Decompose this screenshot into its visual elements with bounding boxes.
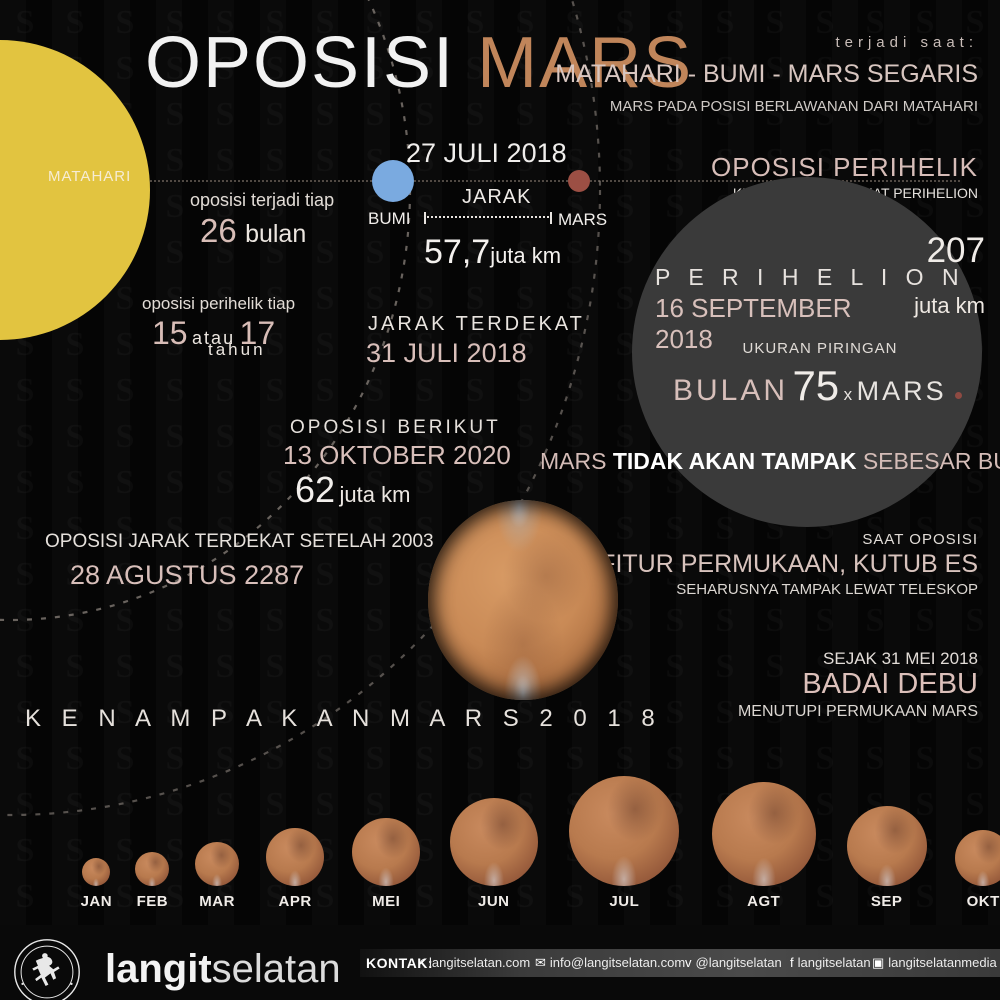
perihelion-distance-unit: juta km bbox=[914, 293, 985, 319]
mars-disc bbox=[352, 818, 420, 886]
berlawanan-sub: MARS PADA POSISI BERLAWANAN DARI MATAHAR… bbox=[610, 98, 978, 115]
mars-disc bbox=[569, 776, 679, 886]
title-word-oposisi: OPOSISI bbox=[145, 23, 455, 103]
month-column: FEB bbox=[123, 852, 182, 910]
mars-disc bbox=[712, 782, 816, 886]
oposisi-berikut-number: 62 bbox=[295, 469, 335, 510]
contact-text: @langitselatan bbox=[696, 955, 782, 970]
perihelion-label: P E R I H E L I O N bbox=[655, 264, 965, 291]
instagram-icon: ▣ bbox=[872, 955, 884, 971]
oposisi-berikut-date: 13 OKTOBER 2020 bbox=[283, 440, 511, 471]
contact-twitter[interactable]: ᴠ@langitselatan bbox=[685, 955, 782, 970]
brand-selatan: selatan bbox=[212, 947, 341, 991]
month-label: FEB bbox=[123, 893, 182, 910]
setelah-2003-date: 28 AGUSTUS 2287 bbox=[70, 560, 304, 591]
perihelik-number-1: 15 bbox=[152, 315, 188, 351]
langitselatan-logo-icon bbox=[12, 937, 82, 1000]
mars-disc bbox=[955, 830, 1000, 886]
month-column: AGT bbox=[696, 782, 832, 910]
opposition-date: 27 JULI 2018 bbox=[406, 138, 567, 169]
mars-disc bbox=[266, 828, 324, 886]
mars-disc bbox=[82, 858, 110, 886]
contact-text: langitselatan.com bbox=[429, 955, 530, 970]
contact-text: langitselatan bbox=[798, 955, 871, 970]
perihelion-block: 207 P E R I H E L I O N juta km 16 SEPTE… bbox=[655, 238, 985, 355]
jarak-terdekat-date: 31 JULI 2018 bbox=[366, 338, 527, 369]
mars-word: MARS bbox=[857, 376, 947, 406]
menutupi-permukaan-sub: MENUTUPI PERMUKAAN MARS bbox=[738, 703, 978, 721]
saat-oposisi-label: SAAT OPOSISI bbox=[862, 531, 978, 548]
sejak-mei-label: SEJAK 31 MEI 2018 bbox=[823, 649, 978, 669]
kenampakan-heading: K E N A M P A K A N M A R S 2 0 1 8 bbox=[25, 705, 662, 733]
month-label: AGT bbox=[696, 893, 832, 910]
oposisi-tiap-number: 26 bbox=[200, 212, 237, 249]
tampak-bold: TIDAK AKAN TAMPAK bbox=[613, 448, 857, 474]
seharusnya-teleskop-sub: SEHARUSNYA TAMPAK LEWAT TELESKOP bbox=[676, 581, 978, 598]
segaris-headline: MATAHARI - BUMI - MARS SEGARIS bbox=[555, 60, 978, 89]
month-column: MAR bbox=[182, 842, 252, 910]
month-column: OKT bbox=[942, 830, 1000, 910]
month-label: JUL bbox=[553, 893, 696, 910]
mars-dot-icon bbox=[955, 392, 962, 399]
distance-measure-bar bbox=[424, 216, 552, 218]
contact-rss[interactable]: ◜langitselatan.com bbox=[420, 955, 530, 971]
setelah-2003-label: OPOSISI JARAK TERDEKAT SETELAH 2003 bbox=[45, 531, 434, 553]
mars-label: MARS bbox=[558, 210, 607, 230]
month-label: MAR bbox=[182, 893, 252, 910]
mail-icon: ✉ bbox=[535, 955, 546, 971]
bulan-factor: 75 bbox=[792, 362, 839, 409]
oposisi-tiap-unit: bulan bbox=[245, 220, 306, 248]
oposisi-tiap-value-row: 26 bulan bbox=[200, 212, 306, 250]
brand-wordmark: langitselatan bbox=[105, 947, 341, 992]
contact-facebook[interactable]: flangitselatan bbox=[790, 955, 871, 970]
bulan-vs-mars-row: BULAN 75 x MARS bbox=[645, 362, 990, 410]
distance-value-row: 57,7juta km bbox=[424, 233, 561, 272]
footer-bar: langitselatan KONTAK: ◜langitselatan.com… bbox=[0, 925, 1000, 1000]
perihelik-tahun-unit: tahun bbox=[208, 340, 266, 360]
month-column: JAN bbox=[70, 858, 123, 910]
month-column: JUL bbox=[553, 776, 696, 910]
jarak-label: JARAK bbox=[462, 186, 531, 209]
fitur-permukaan-headline: FITUR PERMUKAAN, KUTUB ES bbox=[600, 550, 978, 579]
oposisi-berikut-unit: juta km bbox=[340, 482, 411, 507]
earth-planet-icon bbox=[372, 160, 414, 202]
bulan-word: BULAN bbox=[673, 374, 788, 407]
brand-langit: langit bbox=[105, 947, 212, 991]
mars-photo-main bbox=[428, 500, 618, 700]
tampak-statement: MARS TIDAK AKAN TAMPAK SEBESAR BULAN bbox=[540, 448, 980, 475]
month-label: SEP bbox=[832, 893, 942, 910]
perihelion-distance-value: 207 bbox=[927, 238, 985, 264]
oposisi-berikut-label: OPOSISI BERIKUT bbox=[290, 417, 501, 439]
distance-value: 57,7 bbox=[424, 233, 490, 271]
contact-mail[interactable]: ✉info@langitselatan.com bbox=[535, 955, 685, 971]
month-column: MEI bbox=[338, 818, 435, 910]
contact-text: langitselatanmedia bbox=[888, 955, 996, 970]
terjadi-saat-kicker: terjadi saat: bbox=[835, 34, 978, 51]
perihelik-tiap-label: oposisi perihelik tiap bbox=[142, 294, 295, 314]
mars-disc bbox=[195, 842, 239, 886]
oposisi-perihelik-title: OPOSISI PERIHELIK bbox=[711, 152, 978, 183]
mars-planet-icon bbox=[568, 170, 590, 192]
jarak-terdekat-label: JARAK TERDEKAT bbox=[368, 313, 585, 336]
distance-unit: juta km bbox=[490, 243, 561, 268]
mars-size-timeline: JANFEBMARAPRMEIJUNJULAGTSEPOKTNOVDESJAN bbox=[30, 760, 970, 910]
multiply-symbol: x bbox=[844, 385, 853, 404]
mars-disc bbox=[450, 798, 538, 886]
mars-disc bbox=[135, 852, 169, 886]
twitter-icon: ᴠ bbox=[685, 955, 692, 970]
month-label: JAN bbox=[70, 893, 123, 910]
month-label: MEI bbox=[338, 893, 435, 910]
tampak-post: SEBESAR BULAN bbox=[856, 448, 1000, 474]
month-column: JUN bbox=[434, 798, 553, 910]
contact-instagram[interactable]: ▣langitselatanmedia bbox=[872, 955, 997, 971]
rss-icon: ◜ bbox=[420, 955, 425, 971]
month-column: SEP bbox=[832, 806, 942, 910]
oposisi-berikut-value-row: 62 juta km bbox=[295, 469, 410, 511]
month-label: APR bbox=[252, 893, 338, 910]
mars-disc bbox=[847, 806, 927, 886]
month-label: OKT bbox=[942, 893, 1000, 910]
infographic-canvas: SSSSSSSSSSSSSSSSSSSSSSSSSSSSSSSSSSSSSSSS… bbox=[0, 0, 1000, 1000]
oposisi-tiap-label: oposisi terjadi tiap bbox=[190, 190, 334, 211]
month-column: APR bbox=[252, 828, 338, 910]
contact-text: info@langitselatan.com bbox=[550, 955, 685, 970]
badai-debu-headline: BADAI DEBU bbox=[802, 668, 978, 701]
facebook-icon: f bbox=[790, 955, 794, 970]
tampak-pre: MARS bbox=[540, 448, 613, 474]
earth-label: BUMI bbox=[368, 209, 411, 229]
month-label: JUN bbox=[434, 893, 553, 910]
ukuran-piringan-label: UKURAN PIRINGAN bbox=[655, 340, 985, 357]
